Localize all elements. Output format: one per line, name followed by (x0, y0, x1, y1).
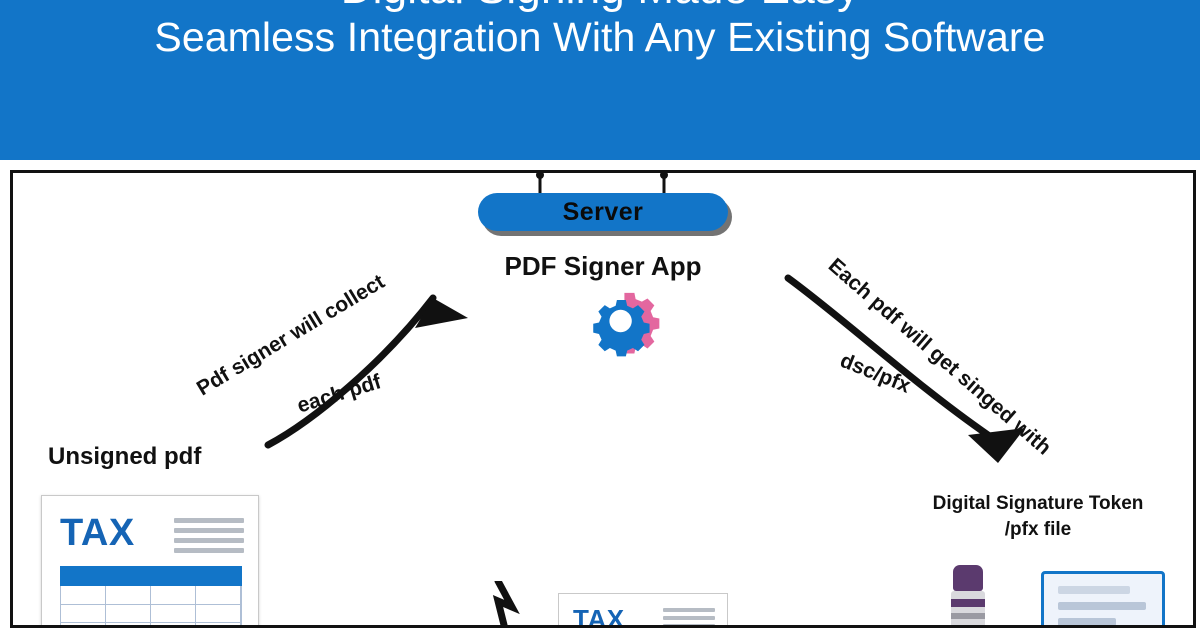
document-header-bar (60, 566, 242, 586)
pfx-file-icon (1041, 571, 1165, 628)
document-text-lines (663, 608, 715, 628)
gear-icon (578, 285, 668, 365)
signed-pdf-document: TAX (558, 593, 728, 628)
document-text-lines (174, 518, 244, 558)
token-label-line1: Digital Signature Token (933, 493, 1144, 514)
banner-subtitle: Seamless Integration With Any Existing S… (0, 14, 1200, 61)
server-node[interactable]: Server (478, 193, 728, 231)
unsigned-pdf-label: Unsigned pdf (48, 443, 201, 471)
usb-token-icon (951, 565, 985, 628)
header-banner: Digital Signing Made Easy Seamless Integ… (0, 0, 1200, 160)
server-stem-right (660, 173, 668, 195)
server-label: Server (563, 198, 644, 227)
diagram-frame: Server PDF Signer App Pdf signer will co… (10, 170, 1196, 628)
document-title-tax: TAX (60, 512, 135, 555)
token-label-line2: /pfx file (1005, 519, 1072, 540)
banner-title: Digital Signing Made Easy (0, 0, 1200, 14)
signature-mark-icon (468, 581, 524, 625)
document-title-tax: TAX (573, 604, 625, 628)
unsigned-pdf-document: TAX (41, 495, 259, 627)
digital-signature-token-label: Digital Signature Token /pfx file (873, 491, 1196, 543)
poster-canvas: Digital Signing Made Easy Seamless Integ… (0, 0, 1200, 630)
document-table-grid (60, 586, 242, 626)
server-stem-left (536, 173, 544, 195)
pdf-signer-app-label: PDF Signer App (438, 251, 768, 282)
